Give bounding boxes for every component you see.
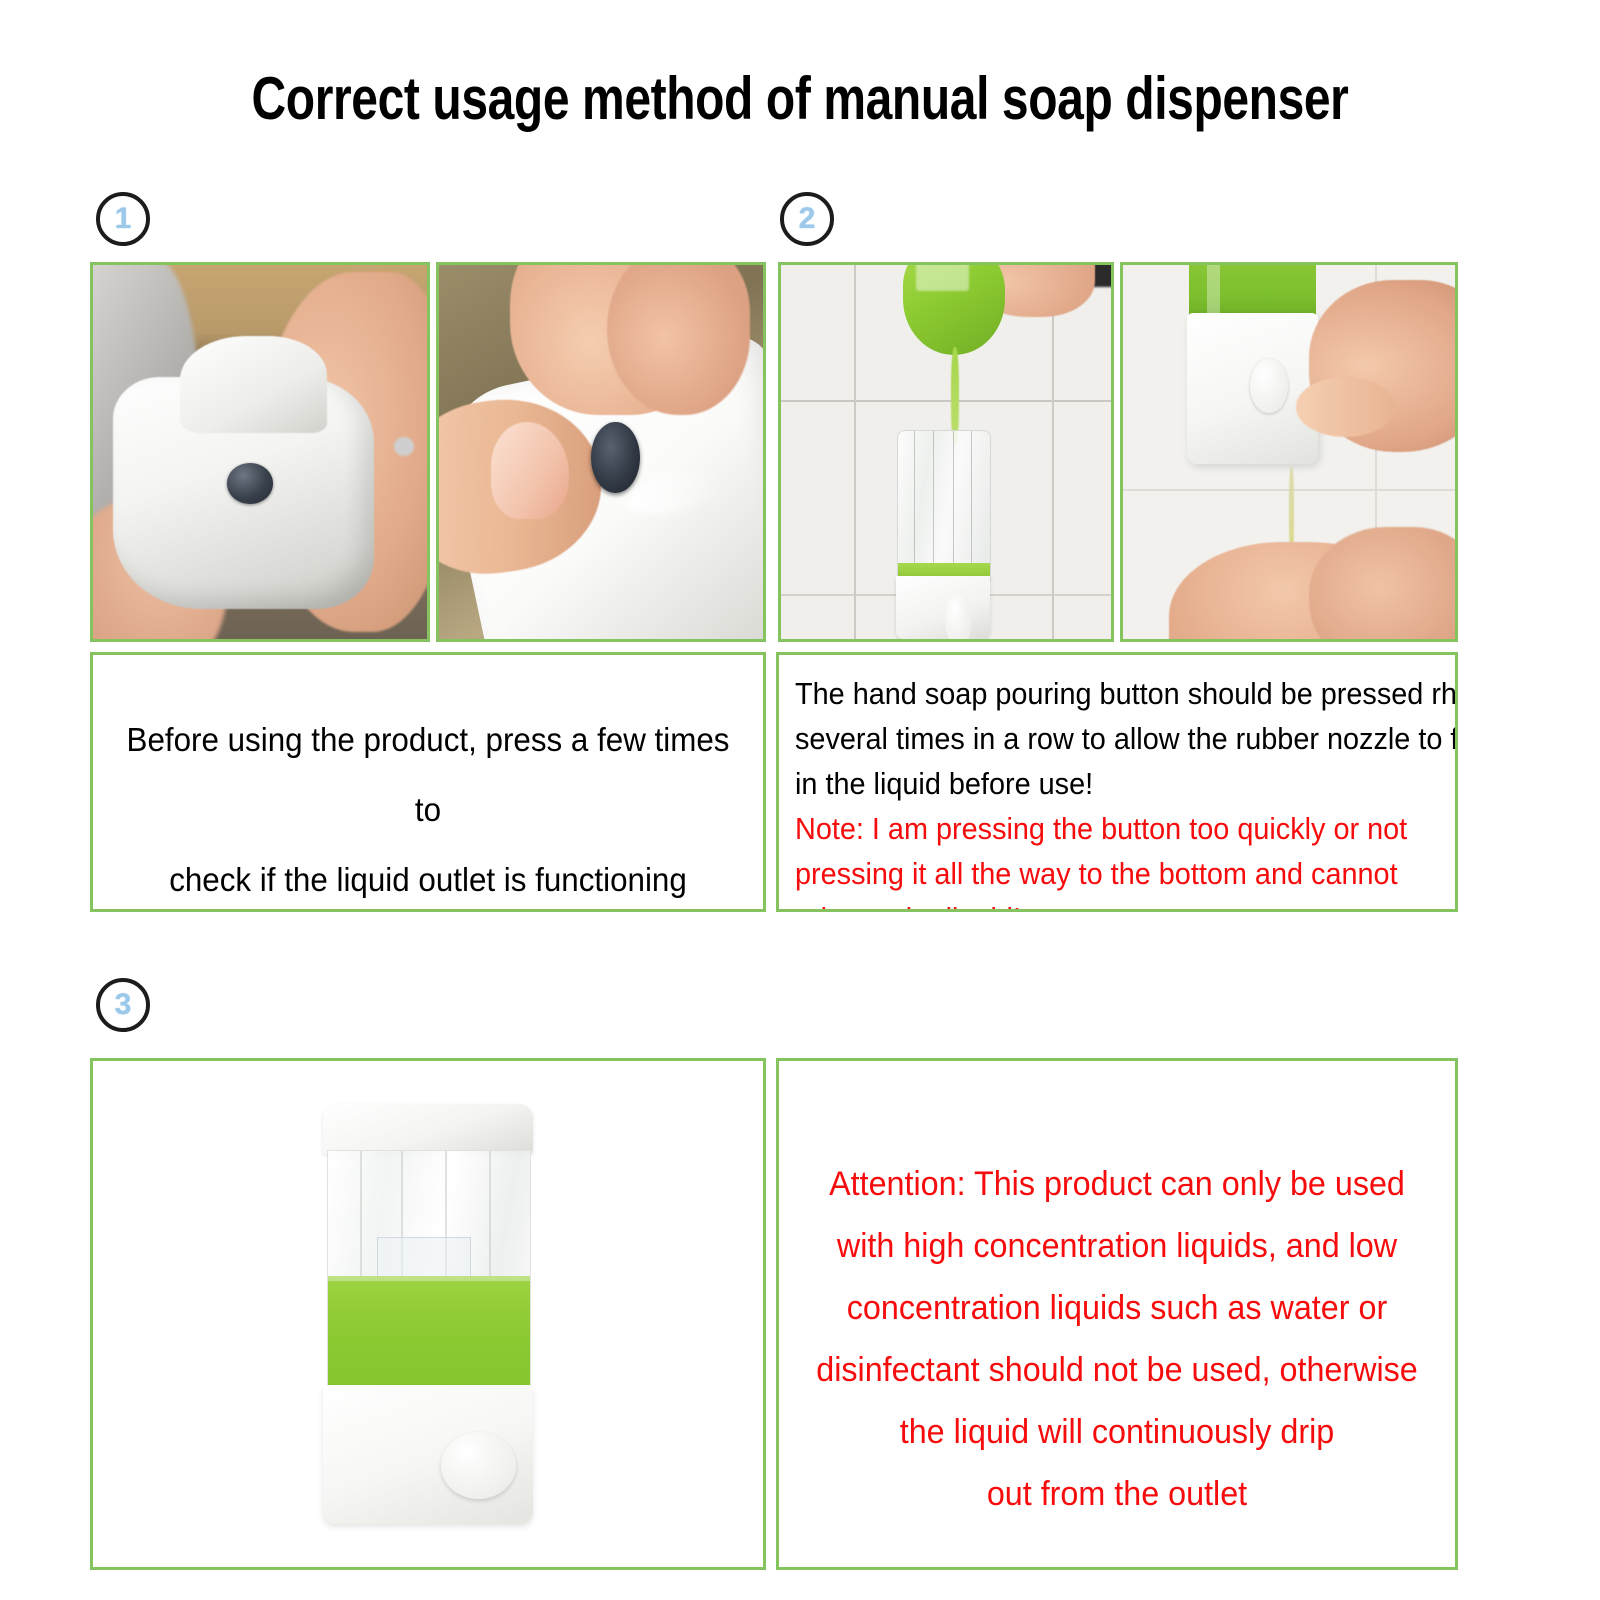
photo-pressing-button-dispensing — [1123, 265, 1455, 639]
page-title: Correct usage method of manual soap disp… — [160, 62, 1440, 136]
step-2-text-line-1: The hand soap pouring button should be p… — [795, 671, 1400, 716]
photo-pouring-soap-into-dispenser — [781, 265, 1111, 639]
photo-hand-holding-dispenser — [93, 265, 427, 639]
step-2-photo-2 — [1120, 262, 1458, 642]
rubber-nozzle-icon — [591, 422, 640, 493]
step-3-text-box: Attention: This product can only be used… — [776, 1058, 1458, 1570]
step-3-attention-line-5: the liquid will continuously drip — [796, 1401, 1438, 1463]
step-1-text-line-2: check if the liquid outlet is functionin… — [110, 845, 747, 912]
step-2-note-line-1: Note: I am pressing the button too quick… — [795, 806, 1400, 851]
step-badge-3: 3 — [96, 978, 150, 1032]
step-badge-2-number: 2 — [799, 202, 816, 236]
dispenser-push-button — [1250, 359, 1288, 413]
step-badge-2: 2 — [780, 192, 834, 246]
step-2-text-line-3: in the liquid before use! — [795, 761, 1400, 806]
step-1-photo-2 — [436, 262, 766, 642]
green-soap-level — [328, 1276, 530, 1391]
step-badge-1: 1 — [96, 192, 150, 246]
step-3-attention-line-2: with high concentration liquids, and low — [796, 1215, 1438, 1277]
step-2-note-line-3: release the liquid! — [795, 896, 1400, 912]
infographic-page: Correct usage method of manual soap disp… — [0, 0, 1600, 1600]
step-2-text-box: The hand soap pouring button should be p… — [776, 652, 1458, 912]
step-3-attention-line-6: out from the outlet — [796, 1463, 1438, 1525]
step-badge-1-number: 1 — [115, 202, 132, 236]
step-3-attention-line-4: disinfectant should not be used, otherwi… — [796, 1339, 1438, 1401]
step-1-text-box: Before using the product, press a few ti… — [90, 652, 766, 912]
step-2-text-line-2: several times in a row to allow the rubb… — [795, 716, 1400, 761]
step-3-attention-line-3: concentration liquids such as water or — [796, 1277, 1438, 1339]
step-3-attention-line-1: Attention: This product can only be used — [796, 1153, 1438, 1215]
dispenser-push-button — [441, 1432, 517, 1499]
step-2-note-line-2: pressing it all the way to the bottom an… — [795, 851, 1400, 896]
step-2-photo-1 — [778, 262, 1114, 642]
step-1-photo-1 — [90, 262, 430, 642]
step-badge-3-number: 3 — [115, 988, 132, 1022]
step-1-text-line-1: Before using the product, press a few ti… — [110, 705, 747, 845]
photo-pressing-nozzle-closeup — [439, 265, 763, 639]
step-3-photo-1 — [90, 1058, 766, 1570]
photo-product-soap-dispenser — [93, 1061, 763, 1567]
